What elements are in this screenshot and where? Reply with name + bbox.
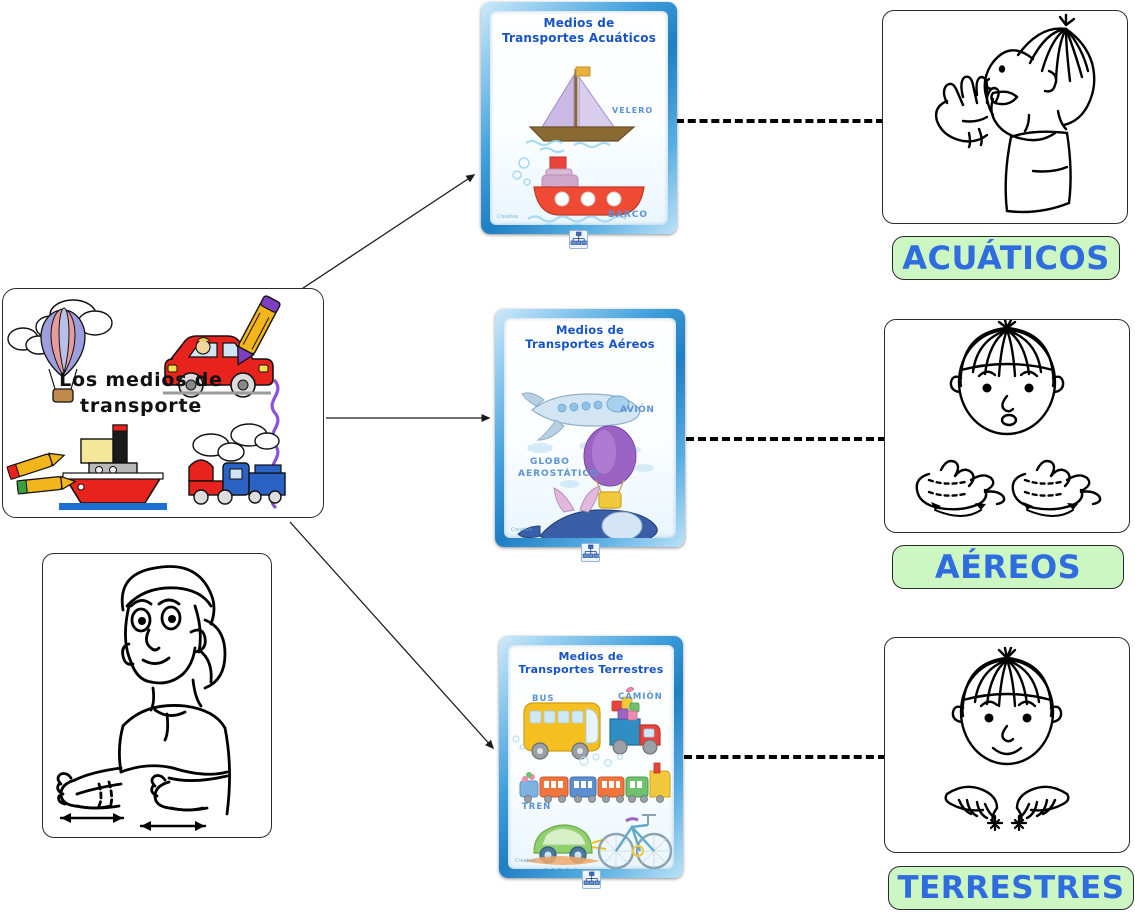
category-label-aereos-text: AÉREOS [935,548,1081,586]
poster-acuaticos-title: Medios de Transportes Acuáticos [490,16,668,45]
car-image [524,825,606,865]
poster-terrestres-label-carro: CARRO [542,868,580,869]
poster-terrestres-label-tren: TREN [522,802,551,812]
poster-aereos-credit: Creative [511,527,532,533]
main-topic-title: Los medios de transporte [41,367,241,419]
poster-acuaticos[interactable]: Medios de Transportes Acuáticos VELERO [481,2,677,234]
poster-aereos[interactable]: Medios de Transportes Aéreos AVIÓN [495,309,685,547]
train-clipart [189,424,285,504]
poster-title-line1: Medios de [544,16,615,30]
poster-aereos-label-globo-1: GLOBO [530,457,570,467]
poster-terrestres-artwork: BUS CAMIÓN [508,685,674,869]
arrow-to-terrestres [290,522,493,748]
hot-air-balloon-image [560,426,654,508]
poster-aereos-inner: Medios de Transportes Aéreos AVIÓN [504,318,676,538]
poster-aereos-label-avion: AVIÓN [620,403,654,415]
poster-terrestres-inner: Medios de Transportes Terrestres [508,645,674,869]
category-label-terrestres[interactable]: TERRESTRES [888,866,1134,910]
crayon-clipart [230,295,281,369]
poster-terrestres-label-camion: CAMIÓN [618,690,663,702]
poster-aereos-label-globo-2: AEROSTÁTICO [518,467,599,479]
category-label-aereos[interactable]: AÉREOS [892,545,1124,589]
org-chart-icon-terrestres[interactable] [582,870,601,889]
main-topic-card[interactable]: Los medios de transporte [2,288,324,518]
main-topic-title-line1: Los medios de [59,369,223,391]
poster-terrestres[interactable]: Medios de Transportes Terrestres [499,636,683,878]
sign-drawing-transporte [43,554,271,836]
train-image [520,754,670,803]
school-bus-image [513,703,600,759]
poster-acuaticos-artwork: VELERO BARCO [490,51,668,225]
poster-terrestres-label-bus: BUS [532,694,555,704]
main-topic-title-line2: transporte [80,395,202,417]
arrow-to-acuaticos [285,175,474,300]
small-plane-image [518,486,657,538]
poster-title-line2: Transportes Acuáticos [490,31,668,46]
poster-title-line2: Transportes Terrestres [508,663,674,676]
poster-acuaticos-label-barco: BARCO [608,210,648,220]
poster-aereos-artwork: AVIÓN GLOBO AEROSTÁTICO [504,360,676,538]
poster-title-line1: Medios de [558,650,623,663]
sign-drawing-aereos [885,320,1129,531]
poster-title-line1: Medios de [556,323,624,337]
sign-card-terrestres[interactable] [884,637,1130,853]
dashed-connector-aereos [686,437,886,441]
org-chart-icon-aereos[interactable] [581,543,600,562]
bicycle-image [599,815,671,868]
category-label-acuaticos[interactable]: ACUÁTICOS [892,236,1120,280]
poster-acuaticos-inner: Medios de Transportes Acuáticos VELERO [490,11,668,225]
sign-drawing-acuaticos [883,11,1127,222]
poster-acuaticos-label-velero: VELERO [612,106,653,115]
poster-terrestres-title: Medios de Transportes Terrestres [508,650,674,677]
sign-card-acuaticos[interactable] [882,10,1128,224]
poster-terrestres-credit: Creative [515,858,536,864]
poster-acuaticos-credit: Creative [497,214,518,220]
sign-card-aereos[interactable] [884,319,1130,533]
dashed-connector-terrestres [684,755,886,759]
poster-aereos-title: Medios de Transportes Aéreos [504,323,676,351]
category-label-terrestres-text: TERRESTRES [897,870,1124,906]
boat-clipart [59,425,167,510]
org-chart-icon-acuaticos[interactable] [569,230,588,249]
sign-card-transporte[interactable] [42,553,272,838]
category-label-acuaticos-text: ACUÁTICOS [902,239,1110,277]
sign-drawing-terrestres [885,638,1129,851]
crayons-clipart [7,449,76,494]
poster-title-line2: Transportes Aéreos [504,337,676,351]
dashed-connector-acuaticos [676,119,884,123]
